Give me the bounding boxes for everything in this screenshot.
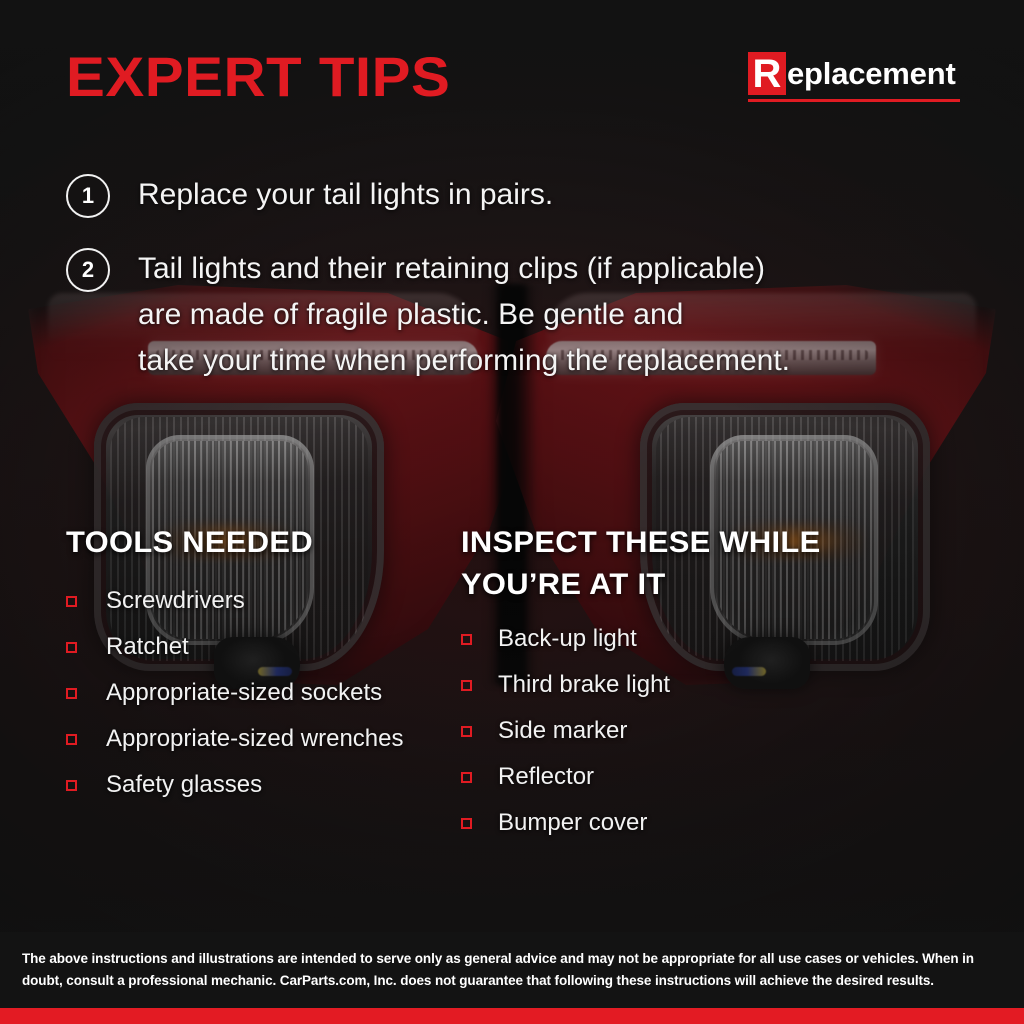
tip-line: Tail lights and their retaining clips (i… bbox=[138, 246, 790, 292]
logo-mark-r: R bbox=[748, 52, 786, 95]
checkbox-square-icon bbox=[461, 818, 472, 829]
brand-logo: R eplacement bbox=[748, 52, 960, 102]
list-item-label: Reflector bbox=[498, 762, 594, 792]
list-item-label: Ratchet bbox=[106, 632, 189, 662]
list-item: Third brake light bbox=[461, 670, 891, 700]
checkbox-square-icon bbox=[461, 726, 472, 737]
tools-needed-heading: TOOLS NEEDED bbox=[66, 522, 473, 564]
tip-line: Replace your tail lights in pairs. bbox=[138, 172, 553, 218]
list-item-label: Side marker bbox=[498, 716, 627, 746]
logo-wordmark: eplacement bbox=[787, 57, 956, 91]
footer: The above instructions and illustrations… bbox=[0, 932, 1024, 1008]
disclaimer-text: The above instructions and illustrations… bbox=[22, 948, 1002, 992]
checkbox-square-icon bbox=[66, 642, 77, 653]
list-item: Back-up light bbox=[461, 624, 891, 654]
logo-row: R eplacement bbox=[748, 52, 956, 95]
list-item: Reflector bbox=[461, 762, 891, 792]
tip-line: take your time when performing the repla… bbox=[138, 338, 790, 384]
checkbox-square-icon bbox=[66, 596, 77, 607]
tip-item: 1 Replace your tail lights in pairs. bbox=[66, 172, 968, 218]
checkbox-square-icon bbox=[66, 734, 77, 745]
tools-needed-list: Screwdrivers Ratchet Appropriate-sized s… bbox=[66, 586, 461, 800]
list-item-label: Screwdrivers bbox=[106, 586, 245, 616]
inspect-these-column: INSPECT THESE WHILE YOU’RE AT IT Back-up… bbox=[461, 522, 891, 854]
tools-needed-column: TOOLS NEEDED Screwdrivers Ratchet Approp… bbox=[66, 522, 461, 854]
page-title: EXPERT TIPS bbox=[66, 44, 450, 109]
list-item: Side marker bbox=[461, 716, 891, 746]
checkbox-square-icon bbox=[66, 780, 77, 791]
tips-list: 1 Replace your tail lights in pairs. 2 T… bbox=[66, 172, 968, 412]
list-item-label: Appropriate-sized sockets bbox=[106, 678, 382, 708]
logo-underline bbox=[748, 99, 960, 102]
list-item-label: Third brake light bbox=[498, 670, 670, 700]
infographic-canvas: EXPERT TIPS R eplacement 1 Replace your … bbox=[0, 0, 1024, 1024]
list-item: Appropriate-sized wrenches bbox=[66, 724, 461, 754]
checkbox-square-icon bbox=[461, 680, 472, 691]
checkbox-square-icon bbox=[461, 634, 472, 645]
header: EXPERT TIPS R eplacement bbox=[0, 0, 1024, 140]
list-item: Screwdrivers bbox=[66, 586, 461, 616]
list-item: Bumper cover bbox=[461, 808, 891, 838]
content-layer: EXPERT TIPS R eplacement 1 Replace your … bbox=[0, 0, 1024, 1024]
inspect-these-heading: INSPECT THESE WHILE YOU’RE AT IT bbox=[461, 522, 904, 606]
list-item: Appropriate-sized sockets bbox=[66, 678, 461, 708]
list-item: Ratchet bbox=[66, 632, 461, 662]
checkbox-square-icon bbox=[66, 688, 77, 699]
tip-line: are made of fragile plastic. Be gentle a… bbox=[138, 292, 790, 338]
checklist-columns: TOOLS NEEDED Screwdrivers Ratchet Approp… bbox=[66, 522, 968, 854]
inspect-these-list: Back-up light Third brake light Side mar… bbox=[461, 624, 891, 838]
list-item-label: Back-up light bbox=[498, 624, 637, 654]
tip-number-badge: 2 bbox=[66, 248, 110, 292]
list-item: Safety glasses bbox=[66, 770, 461, 800]
list-item-label: Appropriate-sized wrenches bbox=[106, 724, 403, 754]
footer-accent-bar bbox=[0, 1008, 1024, 1024]
list-item-label: Bumper cover bbox=[498, 808, 647, 838]
tip-item: 2 Tail lights and their retaining clips … bbox=[66, 246, 968, 384]
tip-number-badge: 1 bbox=[66, 174, 110, 218]
tip-text: Replace your tail lights in pairs. bbox=[138, 172, 553, 218]
tip-text: Tail lights and their retaining clips (i… bbox=[138, 246, 790, 384]
list-item-label: Safety glasses bbox=[106, 770, 262, 800]
checkbox-square-icon bbox=[461, 772, 472, 783]
